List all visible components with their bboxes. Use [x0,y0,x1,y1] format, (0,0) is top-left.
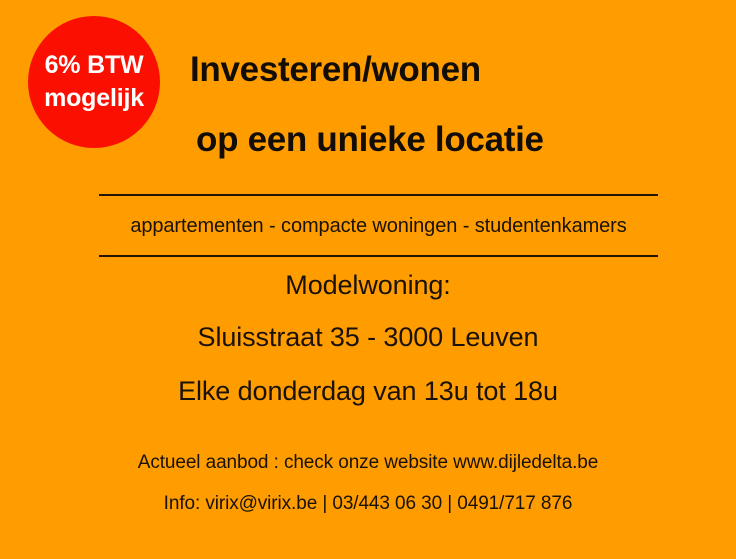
contact-block: Actueel aanbod : check onze website www.… [0,450,736,517]
model-home-hours: Elke donderdag van 13u tot 18u [0,374,736,408]
model-home-block: Modelwoning: Sluisstraat 35 - 3000 Leuve… [0,268,736,408]
contact-info-line: Info: virix@virix.be | 03/443 06 30 | 04… [0,491,736,517]
headline-line-2: op een unieke locatie [196,118,710,162]
divider-rule-top [99,194,658,196]
divider-rule-bottom [99,255,658,257]
headline: Investeren/wonen op een unieke locatie [190,48,710,162]
btw-promo-badge: 6% BTW mogelijk [28,16,160,148]
model-home-address: Sluisstraat 35 - 3000 Leuven [0,320,736,354]
badge-line-2: mogelijk [44,82,144,115]
headline-line-1: Investeren/wonen [190,48,710,92]
website-line: Actueel aanbod : check onze website www.… [0,450,736,476]
property-categories: appartementen - compacte woningen - stud… [99,212,658,240]
badge-line-1: 6% BTW [45,49,144,82]
advertisement-poster: 6% BTW mogelijk Investeren/wonen op een … [0,0,736,559]
model-home-label: Modelwoning: [0,268,736,302]
